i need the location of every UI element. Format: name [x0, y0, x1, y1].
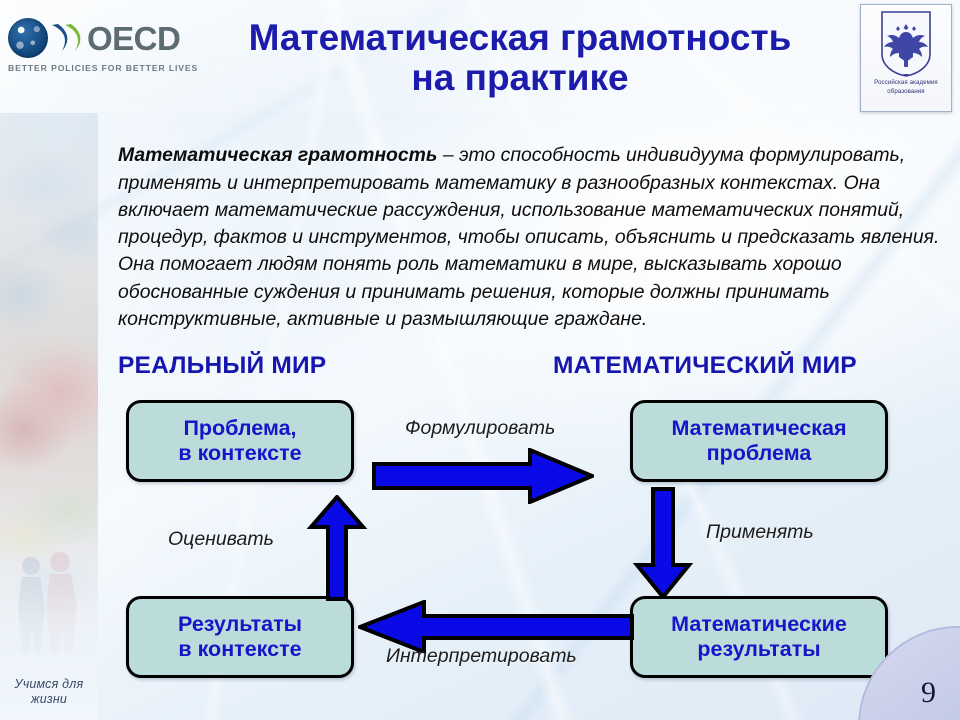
sidebar-caption: Учимся для жизни [0, 677, 98, 708]
oecd-tagline: BETTER POLICIES FOR BETTER LIVES [8, 63, 176, 73]
arrow-label-apply: Применять [706, 521, 814, 544]
slide: OECD BETTER POLICIES FOR BETTER LIVES Ма… [0, 0, 960, 720]
definition-paragraph: Математическая грамотность – это способн… [118, 142, 948, 333]
sidebar-caption-line1: Учимся для [0, 677, 98, 693]
oecd-wordmark: OECD [87, 22, 180, 55]
arrow-left-interpret-icon [358, 600, 634, 654]
node-mathematical-results[interactable]: Математические результаты [630, 596, 888, 678]
definition-body: – это способность индивидуума формулиров… [118, 144, 939, 330]
page-number: 9 [921, 676, 936, 710]
arrow-right-formulate-icon [372, 448, 594, 504]
page-title-line2: на практике [184, 58, 856, 98]
sidebar-fade [0, 113, 98, 720]
arrow-down-apply-icon [633, 487, 693, 599]
node-mathprob-line2: проблема [671, 441, 846, 466]
page-title: Математическая грамотность на практике [184, 18, 856, 97]
arrow-up-evaluate-icon [306, 495, 368, 601]
node-mathres-line1: Математические [671, 612, 847, 637]
arrow-label-interpret: Интерпретировать [386, 645, 577, 668]
node-problem-line2: в контексте [178, 441, 301, 466]
node-mathematical-problem[interactable]: Математическая проблема [630, 400, 888, 482]
node-results-in-context[interactable]: Результаты в контексте [126, 596, 354, 678]
node-problem-line1: Проблема, [178, 416, 301, 441]
definition-lead: Математическая грамотность [118, 144, 437, 166]
node-results-line1: Результаты [178, 612, 302, 637]
oecd-logo: OECD BETTER POLICIES FOR BETTER LIVES [8, 16, 176, 78]
math-world-heading: МАТЕМАТИЧЕСКИЙ МИР [553, 352, 857, 380]
node-mathres-line2: результаты [671, 637, 847, 662]
rae-caption-line2: образования [874, 88, 938, 97]
node-mathprob-line1: Математическая [671, 416, 846, 441]
double-headed-eagle-icon [878, 10, 934, 78]
globe-icon [8, 18, 48, 58]
sidebar-caption-line2: жизни [0, 692, 98, 708]
double-chevron-icon [49, 22, 83, 54]
rae-emblem: Российская академия образования [860, 4, 952, 112]
rae-caption-line1: Российская академия [874, 79, 938, 88]
node-results-line2: в контексте [178, 637, 302, 662]
sidebar-illustration: Учимся для жизни [0, 113, 98, 720]
rae-caption: Российская академия образования [874, 79, 938, 97]
node-problem-in-context[interactable]: Проблема, в контексте [126, 400, 354, 482]
arrow-label-evaluate: Оценивать [168, 528, 274, 551]
real-world-heading: РЕАЛЬНЫЙ МИР [118, 352, 326, 380]
page-title-line1: Математическая грамотность [184, 18, 856, 58]
arrow-label-formulate: Формулировать [405, 417, 555, 440]
